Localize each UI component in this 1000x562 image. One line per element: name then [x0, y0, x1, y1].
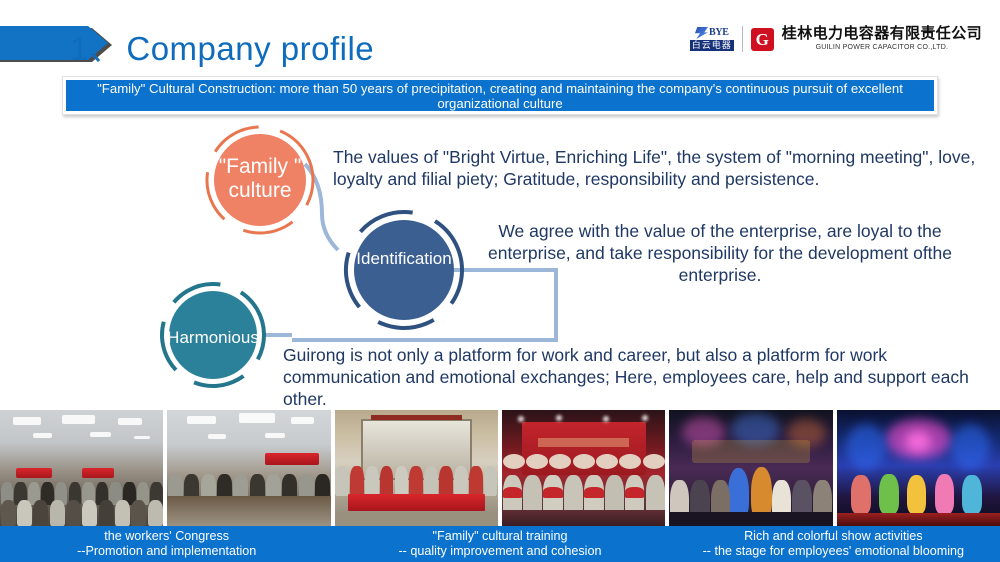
bye-lightning-icon	[695, 27, 708, 39]
diagram-text-identification: We agree with the value of the enterpris…	[460, 220, 980, 286]
photo-workers-congress-hall	[0, 410, 163, 526]
page-title: 1、Company profile	[70, 22, 374, 70]
diagram-text-harmonious: Guirong is not only a platform for work …	[283, 344, 983, 410]
headline-banner-text: "Family" Cultural Construction: more tha…	[66, 80, 934, 111]
caption-workers-congress: the workers' Congress--Promotion and imp…	[0, 526, 333, 562]
photo-strip	[0, 410, 1000, 526]
diagram-text-family: The values of "Bright Virtue, Enriching …	[333, 146, 983, 190]
page-title-text: Company profile	[126, 30, 374, 67]
page-title-number: 1、	[70, 30, 122, 67]
company-name-cn: 桂林电力电容器有限责任公司	[782, 26, 982, 42]
logo-divider	[742, 26, 743, 52]
caption-show-activities: Rich and colorful show activities-- the …	[667, 526, 1000, 562]
caption-cultural-training: "Family" cultural training-- quality imp…	[333, 526, 666, 562]
bye-logo-cn: 白云电器	[690, 40, 734, 51]
photo-workers-congress-raised-hands	[167, 410, 330, 526]
caption-bar: the workers' Congress--Promotion and imp…	[0, 526, 1000, 562]
slide-root: 1、Company profile BYE 白云电器 G 桂林电力电容器有限责任…	[0, 0, 1000, 562]
caption-line: -- the stage for employees' emotional bl…	[667, 544, 1000, 559]
node-family-culture	[188, 122, 331, 252]
caption-line: the workers' Congress	[0, 529, 333, 544]
company-name-en: GUILIN POWER CAPACITOR CO.,LTD.	[782, 44, 982, 51]
caption-line: "Family" cultural training	[333, 529, 666, 544]
caption-line: -- quality improvement and cohesion	[333, 544, 666, 559]
g-badge-icon: G	[751, 28, 774, 51]
caption-line: --Promotion and implementation	[0, 544, 333, 559]
photo-colorful-dance-performance	[837, 410, 1000, 526]
headline-banner-frame: "Family" Cultural Construction: more tha…	[62, 76, 938, 115]
photo-new-year-show-mascots	[669, 410, 832, 526]
culture-diagram: "Family " culture Identification Harmoni…	[0, 122, 1000, 412]
photo-award-ceremony-stage	[502, 410, 665, 526]
bye-logo: BYE 白云电器	[690, 27, 734, 51]
bye-logo-text: BYE	[709, 28, 729, 38]
company-logo: BYE 白云电器 G 桂林电力电容器有限责任公司 GUILIN POWER CA…	[690, 26, 982, 52]
photo-family-cultural-training-group	[335, 410, 498, 526]
node-harmonious	[143, 265, 282, 404]
company-name-block: 桂林电力电容器有限责任公司 GUILIN POWER CAPACITOR CO.…	[782, 26, 982, 51]
caption-line: Rich and colorful show activities	[667, 529, 1000, 544]
